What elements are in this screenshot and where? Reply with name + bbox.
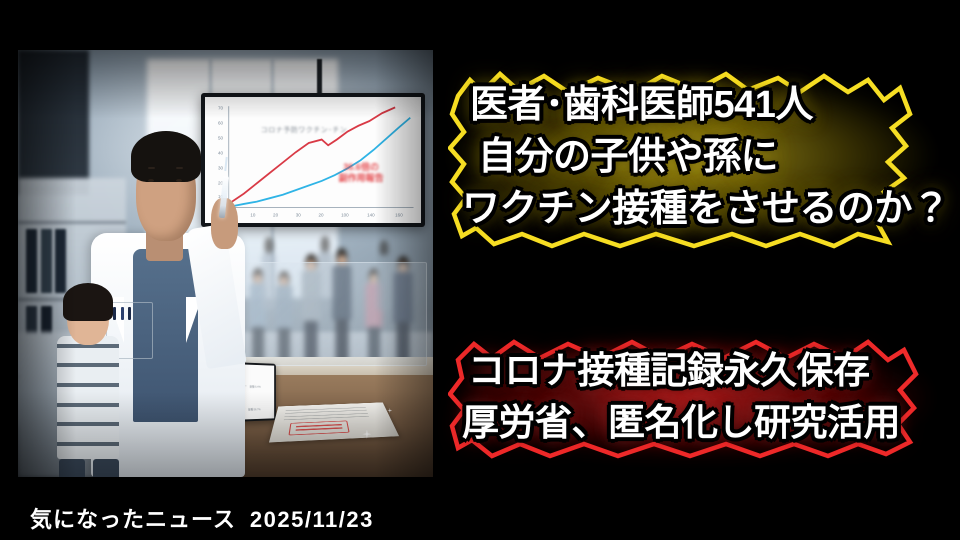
doctor-hair (131, 131, 201, 182)
child-leg (93, 459, 119, 477)
top-headline-line-3: ワクチン接種をさせるのか？ (462, 190, 950, 228)
bottom-headline-line-2: 厚労省、匿名化し研究活用 (462, 404, 900, 441)
svg-text:160: 160 (395, 212, 403, 217)
caption-label: 気になったニュース (30, 507, 236, 532)
child-hair (63, 283, 113, 320)
news-photo: 70 60 50 40 30 20 10 0 0 10 20 30 20 100 (18, 50, 433, 477)
doctor-brow (148, 167, 155, 169)
bottom-headline-line-1: コロナ接種記録永久保存 (468, 352, 870, 389)
child-leg (59, 459, 85, 477)
chart-note-red: 36.6倍の 副作用報告 (339, 162, 384, 183)
svg-text:140: 140 (367, 212, 375, 217)
top-headline-line-1: 医者･歯科医師541人 (470, 86, 813, 124)
thumbnail-canvas: 70 60 50 40 30 20 10 0 0 10 20 30 20 100 (0, 0, 960, 540)
doctor-figure (51, 84, 300, 477)
syringe-needle (225, 157, 228, 171)
binder (26, 229, 37, 293)
svg-text:100: 100 (341, 212, 349, 217)
chart-note-red-line1: 36.6倍の (343, 162, 379, 172)
doctor-brow (176, 167, 183, 169)
held-child-figure (41, 257, 141, 477)
svg-text:20: 20 (318, 212, 323, 217)
caption-date: 2025/11/23 (250, 507, 374, 532)
chart-note-red-line2: 副作用報告 (339, 173, 384, 183)
child-striped-shirt (57, 336, 119, 459)
top-headline-line-2: 自分の子供や孫に (478, 138, 778, 176)
caption-bar: 気になったニュース2025/11/23 (30, 502, 374, 534)
monitor-stand (317, 59, 322, 97)
